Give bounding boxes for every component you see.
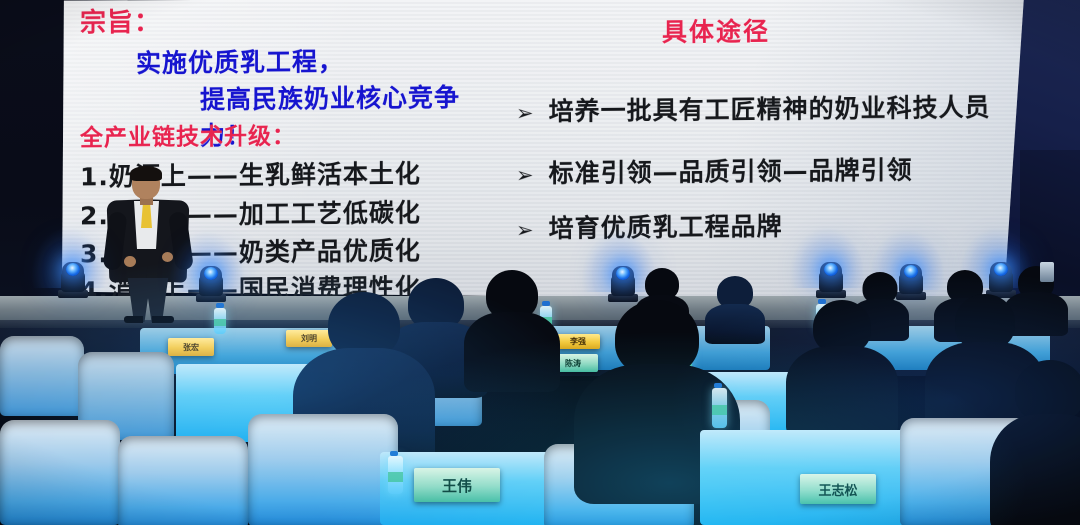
speaker-shoes xyxy=(124,316,174,323)
speaker-figure xyxy=(106,168,192,320)
placard-foreground-right: 王志松 xyxy=(800,474,876,504)
audience-chair-r2-1 xyxy=(0,336,84,416)
bottle-label xyxy=(712,405,727,415)
bullet-arrow-icon: ➢ xyxy=(516,163,535,187)
light-lens xyxy=(204,267,218,280)
audience-chair-fg-3 xyxy=(248,414,398,525)
slide-content: 宗旨： 实施优质乳工程， 提高民族奶业核心竞争力！ 全产业链技术升级： 1.奶源… xyxy=(62,0,1024,309)
slide-bullet-3: ➢培育优质乳工程品牌 xyxy=(516,207,783,246)
audience-chair-fg-2 xyxy=(118,436,248,525)
stage-light-2 xyxy=(196,266,226,302)
placard-back-1: 张宏 xyxy=(168,338,214,356)
slide-bullet-3-label: 培育优质乳工程品牌 xyxy=(549,212,783,243)
smartphone-icon xyxy=(1040,262,1054,282)
speaker-hand-left xyxy=(124,256,136,267)
bottle-cap xyxy=(216,303,224,308)
slide-bullet-2-label: 标准引领—品质引领—品牌引领 xyxy=(549,155,913,187)
water-bottle-back-1 xyxy=(214,308,226,334)
light-lens xyxy=(824,263,838,276)
slide-blue-line-1: 实施优质乳工程， xyxy=(136,42,344,80)
placard-foreground: 王伟 xyxy=(414,468,500,502)
person-body xyxy=(990,414,1080,525)
stage-light-1 xyxy=(58,262,88,298)
stage-light-4 xyxy=(816,262,846,298)
slide-heading-approaches: 具体途径 xyxy=(662,12,770,49)
slide-left-panel: 宗旨： 实施优质乳工程， 提高民族奶业核心竞争力！ 全产业链技术升级： 1.奶源… xyxy=(70,0,500,1)
conference-photo: 宗旨： 实施优质乳工程， 提高民族奶业核心竞争力！ 全产业链技术升级： 1.奶源… xyxy=(0,0,1080,525)
slide-bullet-1: ➢培养一批具有工匠精神的奶业科技人员 xyxy=(516,88,991,129)
stage-light-3 xyxy=(608,266,638,302)
audience-person-r2-3 xyxy=(790,300,894,430)
bottle-cap xyxy=(714,383,722,388)
bottle-label xyxy=(388,472,403,482)
water-bottle-fg-2 xyxy=(712,388,727,428)
person-body xyxy=(464,312,560,392)
slide-heading-purpose: 宗旨： xyxy=(80,2,161,40)
audience-chair-fg-1 xyxy=(0,420,120,525)
speaker-hand-right xyxy=(162,252,173,262)
light-lens xyxy=(66,263,80,276)
bullet-arrow-icon: ➢ xyxy=(516,101,535,125)
speaker-hair xyxy=(130,166,162,181)
slide-bullet-2: ➢标准引领—品质引领—品牌引领 xyxy=(516,150,913,190)
bullet-arrow-icon: ➢ xyxy=(516,218,535,242)
slide-subheading-chain: 全产业链技术升级： xyxy=(80,116,296,152)
slide-bullet-1-label: 培养一批具有工匠精神的奶业科技人员 xyxy=(549,93,991,126)
person-body xyxy=(786,346,898,438)
bottle-label xyxy=(214,319,226,326)
audience-person-fg-3 xyxy=(1000,360,1080,525)
person-head xyxy=(1015,360,1080,422)
bottle-cap xyxy=(390,451,398,456)
light-lens xyxy=(616,267,630,280)
water-bottle-fg-1 xyxy=(388,456,403,494)
audience-person-r2-2 xyxy=(468,270,556,386)
